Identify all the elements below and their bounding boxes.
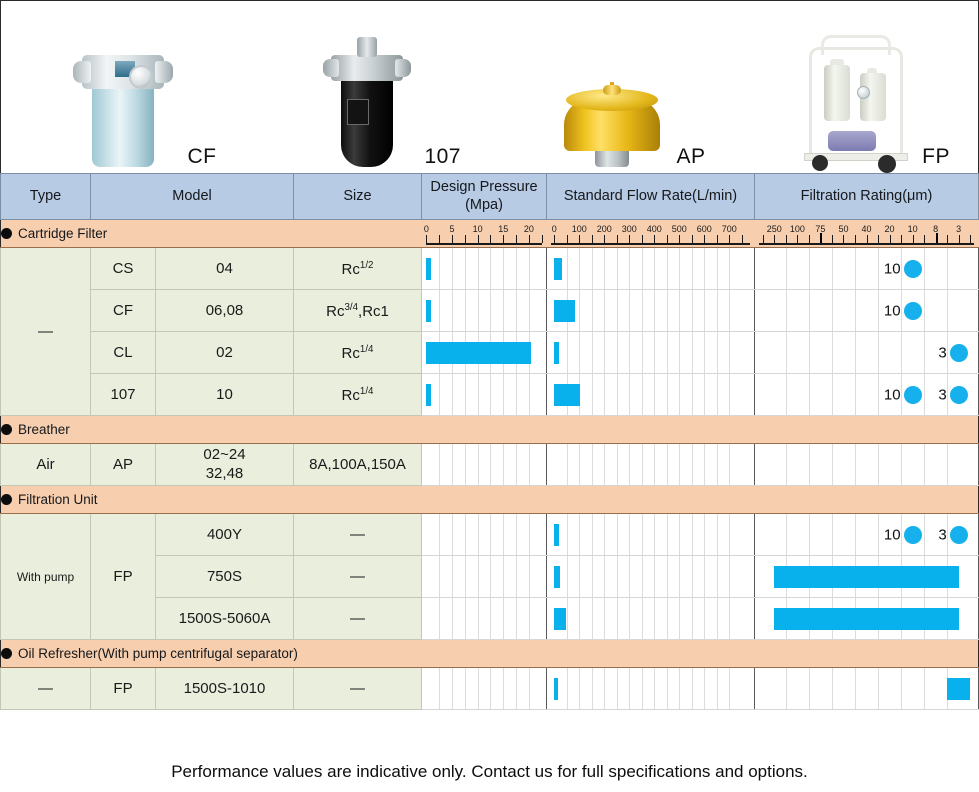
section-band-breather: Breather <box>1 416 979 444</box>
plot-area <box>547 332 754 373</box>
plot-flow-rate <box>547 444 755 486</box>
size-fraction: 1/2 <box>360 260 374 271</box>
axis-tick-label: 15 <box>498 224 508 234</box>
design-pressure-bar <box>426 258 431 280</box>
plot-area: 103 <box>755 374 978 415</box>
plot-area <box>547 514 754 555</box>
cell-size: — <box>294 668 422 710</box>
design-pressure-bar <box>426 384 431 406</box>
plot-flow-rate <box>547 374 755 416</box>
plot-filtration-rating <box>755 444 979 486</box>
axis-tick-label: 700 <box>722 224 737 234</box>
plot-design-pressure <box>422 332 547 374</box>
product-photo-fp: FP <box>734 1 979 173</box>
header-type: Type <box>1 174 91 220</box>
plot-area <box>422 514 546 555</box>
plot-area <box>547 668 754 709</box>
size-fraction: 3/4 <box>344 302 358 313</box>
design-pressure-bar <box>426 342 531 364</box>
axis-tick-label: 50 <box>838 224 848 234</box>
axis-tick-label: 250 <box>767 224 782 234</box>
plot-filtration-rating: 103 <box>755 514 979 556</box>
plot-design-pressure <box>422 598 547 640</box>
product-label-fp: FP <box>922 145 950 169</box>
plot-area <box>547 248 754 289</box>
filtration-rating-dot <box>950 386 968 404</box>
plot-area <box>422 556 546 597</box>
flow-rate-bar <box>554 342 559 364</box>
header-size: Size <box>294 174 422 220</box>
filter107-label-plate-icon <box>347 99 369 125</box>
plot-filtration-rating <box>755 668 979 710</box>
size-suffix: ,Rc1 <box>358 303 389 320</box>
filtration-single-bar <box>947 678 970 700</box>
axis-tick-label: 40 <box>861 224 871 234</box>
plot-flow-rate <box>547 514 755 556</box>
filter107-port-left-icon <box>323 59 339 77</box>
plot-design-pressure <box>422 444 547 486</box>
filtration-range-bar <box>774 566 958 588</box>
bullet-icon <box>1 648 12 659</box>
plot-filtration-rating <box>755 598 979 640</box>
axis-tick-label: 400 <box>647 224 662 234</box>
cell-name-line2: 32,48 <box>156 465 293 484</box>
plot-area <box>755 556 978 597</box>
product-photo-107: 107 <box>245 1 490 173</box>
section-band-cartridge-filter: Cartridge Filter 05101520 01002003004005… <box>1 220 979 248</box>
filtration-rating-dot-label: 10 <box>884 302 904 319</box>
cell-model: FP <box>91 514 156 640</box>
product-photo-ap: AP <box>489 1 734 173</box>
plot-flow-rate <box>547 556 755 598</box>
specification-table: Type Model Size Design Pressure (Mpa) St… <box>0 173 979 710</box>
axis-tick-label: 3 <box>956 224 961 234</box>
product-label-107: 107 <box>424 145 461 169</box>
cell-model: CL <box>91 332 156 374</box>
cell-model: 107 <box>91 374 156 416</box>
plot-design-pressure <box>422 374 547 416</box>
filter107-port-right-icon <box>395 59 411 77</box>
plot-design-pressure <box>422 556 547 598</box>
table-row: 107 10 Rc1/4 103 <box>1 374 979 416</box>
cell-name: 10 <box>156 374 294 416</box>
plot-area <box>422 332 546 373</box>
filtration-rating-dot-label: 3 <box>938 386 949 403</box>
plot-flow-rate <box>547 598 755 640</box>
plot-area <box>422 668 546 709</box>
axis-filtration-rating: 250100755040201083 <box>755 220 979 248</box>
plot-area <box>547 374 754 415</box>
section-label: Cartridge Filter <box>18 226 107 241</box>
plot-flow-rate <box>547 332 755 374</box>
axis-tick-label: 20 <box>524 224 534 234</box>
filtration-rating-dot <box>950 526 968 544</box>
filter107-head-icon <box>331 55 403 81</box>
filtration-rating-dot-label: 10 <box>884 526 904 543</box>
fp-pump-motor-icon <box>828 131 876 151</box>
plot-flow-rate <box>547 290 755 332</box>
cf-port-left-icon <box>73 61 91 83</box>
filtration-rating-dot <box>904 260 922 278</box>
cell-name-line1: 02~24 <box>156 446 293 465</box>
axis-tick-label: 10 <box>473 224 483 234</box>
cell-size: Rc1/4 <box>294 332 422 374</box>
cell-size: — <box>294 598 422 640</box>
product-label-cf: CF <box>188 145 217 169</box>
filtration-rating-dot-label: 3 <box>938 344 949 361</box>
section-title-oil-refresher: Oil Refresher(With pump centrifugal sepa… <box>1 640 979 668</box>
axis-tick-label: 300 <box>622 224 637 234</box>
plot-area: 3 <box>755 332 978 373</box>
header-design-pressure-title: Design Pressure <box>422 179 546 196</box>
bullet-icon <box>1 228 12 239</box>
axis-tick-label: 500 <box>672 224 687 234</box>
cell-model: CS <box>91 248 156 290</box>
section-label: Breather <box>18 422 70 437</box>
filtration-rating-dot-label: 3 <box>938 526 949 543</box>
axis-tick-label: 0 <box>424 224 429 234</box>
bullet-icon <box>1 494 12 505</box>
cell-type-oil-refresher: — <box>1 668 91 710</box>
plot-area <box>547 598 754 639</box>
plot-design-pressure <box>422 290 547 332</box>
plot-flow-rate <box>547 668 755 710</box>
axis-tick-label: 75 <box>815 224 825 234</box>
flow-rate-bar <box>554 258 562 280</box>
product-photo-cf: CF <box>1 1 245 173</box>
cf-body-icon <box>92 85 154 167</box>
filtration-rating-dot-label: 10 <box>884 260 904 277</box>
axis-flow-rate-scale: 0100200300400500600700 <box>547 220 754 247</box>
plot-area <box>422 374 546 415</box>
filtration-range-bar <box>774 608 958 630</box>
size-prefix: Rc <box>342 345 360 362</box>
axis-tick-label: 100 <box>790 224 805 234</box>
plot-area <box>547 290 754 331</box>
fp-wheel-left-icon <box>812 155 828 171</box>
axis-tick-label: 600 <box>697 224 712 234</box>
table-row: CL 02 Rc1/4 3 <box>1 332 979 374</box>
plot-area <box>422 444 546 485</box>
table-row: With pump FP 400Y — 103 <box>1 514 979 556</box>
axis-tick-label: 200 <box>597 224 612 234</box>
plot-area <box>755 444 978 485</box>
axis-flow-rate: 0100200300400500600700 <box>547 220 755 248</box>
cell-size: Rc1/2 <box>294 248 422 290</box>
plot-design-pressure <box>422 668 547 710</box>
axis-tick-label: 20 <box>885 224 895 234</box>
size-fraction: 1/4 <box>360 344 374 355</box>
cell-size: Rc1/4 <box>294 374 422 416</box>
filtration-rating-dot <box>950 344 968 362</box>
cell-type-cartridge: — <box>1 248 91 416</box>
table-row: CF 06,08 Rc3/4,Rc1 10 <box>1 290 979 332</box>
plot-flow-rate <box>547 248 755 290</box>
plot-area <box>755 598 978 639</box>
cell-size: — <box>294 514 422 556</box>
header-design-pressure-unit: (Mpa) <box>422 197 546 214</box>
cell-name: 1500S-1010 <box>156 668 294 710</box>
cell-name: 1500S-5060A <box>156 598 294 640</box>
plot-area <box>422 290 546 331</box>
plot-area <box>422 248 546 289</box>
plot-filtration-rating: 3 <box>755 332 979 374</box>
header-filtration-rating: Filtration Rating(μm) <box>755 174 979 220</box>
cell-name: 02 <box>156 332 294 374</box>
cell-model: FP <box>91 668 156 710</box>
header-design-pressure: Design Pressure (Mpa) <box>422 174 547 220</box>
flow-rate-bar <box>554 524 559 546</box>
plot-filtration-rating: 10 <box>755 290 979 332</box>
size-prefix: Rc <box>342 261 360 278</box>
plot-area <box>422 598 546 639</box>
fp-tank-left-icon <box>824 65 850 121</box>
cell-name: 400Y <box>156 514 294 556</box>
cell-name: 750S <box>156 556 294 598</box>
cell-size: Rc3/4,Rc1 <box>294 290 422 332</box>
plot-filtration-rating: 103 <box>755 374 979 416</box>
table-row: Air AP 02~24 32,48 8A,100A,150A <box>1 444 979 486</box>
cell-name: 04 <box>156 248 294 290</box>
design-pressure-bar <box>426 300 431 322</box>
ap-wingnut-icon <box>603 85 621 95</box>
axis-design-pressure-scale: 05101520 <box>422 220 546 247</box>
axis-filtration-rating-scale: 250100755040201083 <box>755 220 978 247</box>
cell-type-air: Air <box>1 444 91 486</box>
table-row: — FP 1500S-1010 — <box>1 668 979 710</box>
plot-area <box>547 556 754 597</box>
plot-area: 103 <box>755 514 978 555</box>
footer-note: Performance values are indicative only. … <box>0 762 979 782</box>
plot-area <box>547 444 754 485</box>
flow-rate-bar <box>554 300 575 322</box>
cell-name: 02~24 32,48 <box>156 444 294 486</box>
flow-rate-bar <box>554 566 560 588</box>
flow-rate-bar <box>554 384 580 406</box>
axis-tick-label: 10 <box>908 224 918 234</box>
axis-tick-label: 5 <box>449 224 454 234</box>
plot-filtration-rating <box>755 556 979 598</box>
cell-type-with-pump: With pump <box>1 514 91 640</box>
plot-filtration-rating: 10 <box>755 248 979 290</box>
flow-rate-bar <box>554 608 566 630</box>
size-prefix: Rc <box>326 303 344 320</box>
axis-tick-label: 100 <box>572 224 587 234</box>
filtration-rating-dot-label: 10 <box>884 386 904 403</box>
plot-design-pressure <box>422 514 547 556</box>
plot-area: 10 <box>755 248 978 289</box>
section-band-filtration-unit: Filtration Unit <box>1 486 979 514</box>
product-label-ap: AP <box>676 145 705 169</box>
plot-design-pressure <box>422 248 547 290</box>
axis-tick-label: 8 <box>933 224 938 234</box>
filter107-stem-icon <box>357 37 377 57</box>
flow-rate-bar <box>554 678 558 700</box>
filtration-rating-dot <box>904 526 922 544</box>
bullet-icon <box>1 424 12 435</box>
plot-area: 10 <box>755 290 978 331</box>
filtration-rating-dot <box>904 386 922 404</box>
size-prefix: Rc <box>342 387 360 404</box>
section-title-filtration-unit: Filtration Unit <box>1 486 979 514</box>
cell-name: 06,08 <box>156 290 294 332</box>
section-title-cartridge-filter: Cartridge Filter <box>1 220 422 248</box>
axis-tick-label: 0 <box>552 224 557 234</box>
section-label: Filtration Unit <box>18 492 98 507</box>
spec-sheet-page: CF 107 AP <box>0 0 979 792</box>
cell-size: 8A,100A,150A <box>294 444 422 486</box>
section-title-breather: Breather <box>1 416 979 444</box>
fp-wheel-right-icon <box>878 155 896 173</box>
section-label: Oil Refresher(With pump centrifugal sepa… <box>18 646 298 661</box>
cell-model: CF <box>91 290 156 332</box>
cell-model: AP <box>91 444 156 486</box>
cell-size: — <box>294 556 422 598</box>
product-photo-strip: CF 107 AP <box>0 0 979 173</box>
size-fraction: 1/4 <box>360 386 374 397</box>
cf-gauge-icon <box>129 65 153 89</box>
header-model: Model <box>91 174 294 220</box>
table-header-row: Type Model Size Design Pressure (Mpa) St… <box>1 174 979 220</box>
axis-design-pressure: 05101520 <box>422 220 547 248</box>
header-flow-rate: Standard Flow Rate(L/min) <box>547 174 755 220</box>
table-row: — CS 04 Rc1/2 10 <box>1 248 979 290</box>
plot-area <box>755 668 978 709</box>
filtration-rating-dot <box>904 302 922 320</box>
section-band-oil-refresher: Oil Refresher(With pump centrifugal sepa… <box>1 640 979 668</box>
cf-port-right-icon <box>155 61 173 83</box>
